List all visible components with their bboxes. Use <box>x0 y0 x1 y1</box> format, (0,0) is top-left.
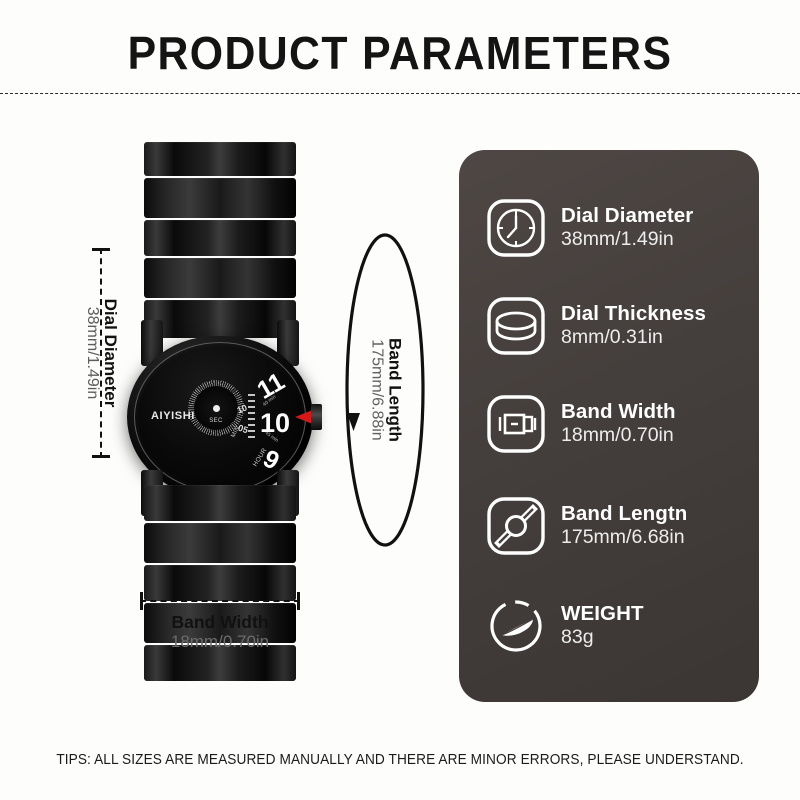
feather-icon <box>485 595 547 657</box>
watch-bracelet-top <box>144 140 296 340</box>
band-length-callout: Band Length 175mm/6.88in <box>330 225 440 555</box>
dial-diameter-value: 38mm/1.49in <box>83 248 100 458</box>
product-parameters-page: PRODUCT PARAMETERS AIYISHI <box>0 0 800 800</box>
band-width-label: Band Width <box>115 612 325 632</box>
band-width-cap-left <box>140 592 143 610</box>
watch-dial: AIYISHI SEC MIN HOUR 10 05 40 min 45 min… <box>138 346 302 488</box>
watch-hour-disc-11: 11 <box>253 367 290 405</box>
page-title: PRODUCT PARAMETERS <box>28 26 772 80</box>
spec-label-dial-thickness: Dial Thickness <box>561 302 706 326</box>
band-width-cap-right <box>297 592 300 610</box>
spec-row-dial-thickness: Dial Thickness 8mm/0.31in <box>485 280 743 372</box>
spec-label-dial-diameter: Dial Diameter <box>561 204 693 228</box>
spec-label-band-length: Band Lengtn <box>561 502 687 526</box>
spec-value-band-length: 175mm/6.68in <box>561 526 687 550</box>
spec-row-weight: WEIGHT 83g <box>485 580 743 672</box>
spec-label-band-width: Band Width <box>561 400 676 424</box>
tips-note: TIPS: ALL SIZES ARE MEASURED MANUALLY AN… <box>40 751 760 768</box>
watch-tick-marks <box>248 394 256 440</box>
band-width-dashed-line <box>140 600 300 602</box>
dial-diameter-labels: Dial Diameter 38mm/1.49in <box>83 248 119 458</box>
spec-value-dial-thickness: 8mm/0.31in <box>561 326 706 350</box>
spec-value-dial-diameter: 38mm/1.49in <box>561 228 693 252</box>
watch-product-image: AIYISHI SEC MIN HOUR 10 05 40 min 45 min… <box>125 140 315 685</box>
watch-band-icon <box>485 495 547 557</box>
band-length-value: 175mm/6.88in <box>368 278 385 503</box>
spec-row-band-length: Band Lengtn 175mm/6.68in <box>485 480 743 572</box>
clasp-icon <box>485 393 547 455</box>
cylinder-icon <box>485 295 547 357</box>
watch-hour-disc-10: 10 <box>260 408 290 439</box>
band-length-label: Band Length <box>385 278 403 503</box>
spec-value-band-width: 18mm/0.70in <box>561 424 676 448</box>
spec-row-dial-diameter: Dial Diameter 38mm/1.49in <box>485 182 743 274</box>
watch-sec-label: SEC <box>201 418 231 424</box>
watch-crown <box>311 404 322 430</box>
watch-subdial-pin <box>213 405 220 412</box>
spec-value-weight: 83g <box>561 626 644 650</box>
spec-label-weight: WEIGHT <box>561 602 644 626</box>
clock-icon <box>485 197 547 259</box>
spec-row-band-width: Band Width 18mm/0.70in <box>485 378 743 470</box>
band-length-labels: Band Length 175mm/6.88in <box>368 278 404 503</box>
dial-diameter-label: Dial Diameter <box>100 248 118 458</box>
band-width-value: 18mm/0.70in <box>115 632 325 652</box>
watch-bracelet-bottom <box>144 485 296 685</box>
spec-panel: Dial Diameter 38mm/1.49in Dial Thickness… <box>459 150 759 702</box>
product-photo-area: AIYISHI SEC MIN HOUR 10 05 40 min 45 min… <box>30 120 460 690</box>
title-divider <box>0 93 800 94</box>
band-width-labels: Band Width 18mm/0.70in <box>115 612 325 653</box>
